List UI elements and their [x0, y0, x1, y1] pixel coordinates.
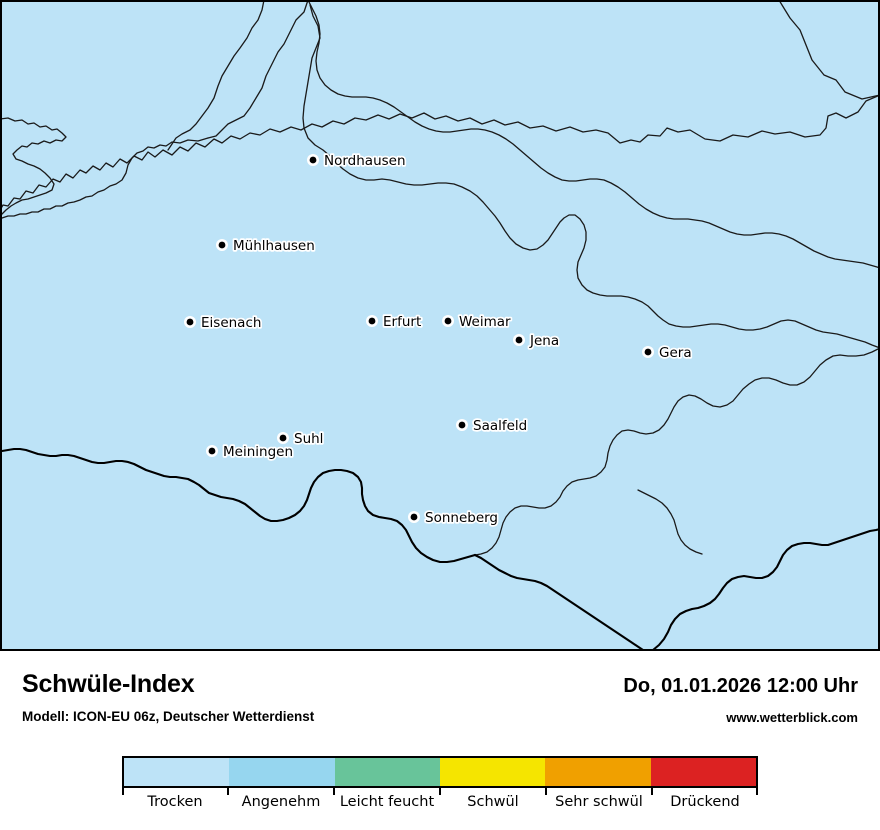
city-label: Erfurt: [383, 314, 421, 330]
city-dot-icon: [369, 318, 376, 325]
legend-swatch-1[interactable]: [229, 758, 334, 786]
city-dot-icon: [516, 337, 523, 344]
city-dot-icon: [209, 448, 216, 455]
model-info: Modell: ICON-EU 06z, Deutscher Wetterdie…: [22, 709, 314, 724]
city-dot-icon: [459, 422, 466, 429]
city-label: Suhl: [294, 431, 323, 447]
legend-swatch-2[interactable]: [335, 758, 440, 786]
legend-color-bar[interactable]: [122, 756, 758, 788]
city-dot-icon: [310, 157, 317, 164]
city-dot-icon: [187, 319, 194, 326]
website-url: www.wetterblick.com: [726, 710, 858, 725]
map-background-fill: [0, 0, 880, 651]
legend-label-1: Angenehm: [228, 794, 334, 818]
map-canvas[interactable]: NordhausenNordhausenMühlhausenMühlhausen…: [0, 0, 880, 651]
city-dot-icon: [219, 242, 226, 249]
city-dot-icon: [411, 514, 418, 521]
city-dot-icon: [645, 349, 652, 356]
legend-label-5: Drückend: [652, 794, 758, 818]
legend-labels-row: TrockenAngenehmLeicht feuchtSchwülSehr s…: [122, 794, 758, 818]
legend-label-3: Schwül: [440, 794, 546, 818]
legend-label-4: Sehr schwül: [546, 794, 652, 818]
footer-panel: Schwüle-Index Modell: ICON-EU 06z, Deuts…: [0, 651, 880, 830]
city-label: Eisenach: [201, 315, 261, 331]
legend-swatch-3[interactable]: [440, 758, 545, 786]
forecast-datetime: Do, 01.01.2026 12:00 Uhr: [623, 675, 858, 698]
city-label: Gera: [659, 345, 692, 361]
city-dot-icon: [280, 435, 287, 442]
city-label: Saalfeld: [473, 418, 527, 434]
legend-swatch-5[interactable]: [651, 758, 756, 786]
page-title: Schwüle-Index: [22, 670, 194, 699]
city-label: Jena: [529, 333, 559, 349]
legend-label-0: Trocken: [122, 794, 228, 818]
legend-swatch-4[interactable]: [545, 758, 650, 786]
city-label: Sonneberg: [425, 510, 498, 526]
city-dot-icon: [445, 318, 452, 325]
city-label: Weimar: [459, 314, 511, 330]
legend-label-2: Leicht feucht: [334, 794, 440, 818]
legend-swatch-0[interactable]: [124, 758, 229, 786]
city-label: Mühlhausen: [233, 238, 315, 254]
city-label: Nordhausen: [324, 153, 406, 169]
weather-map[interactable]: NordhausenNordhausenMühlhausenMühlhausen…: [0, 0, 880, 651]
city-label: Meiningen: [223, 444, 293, 460]
